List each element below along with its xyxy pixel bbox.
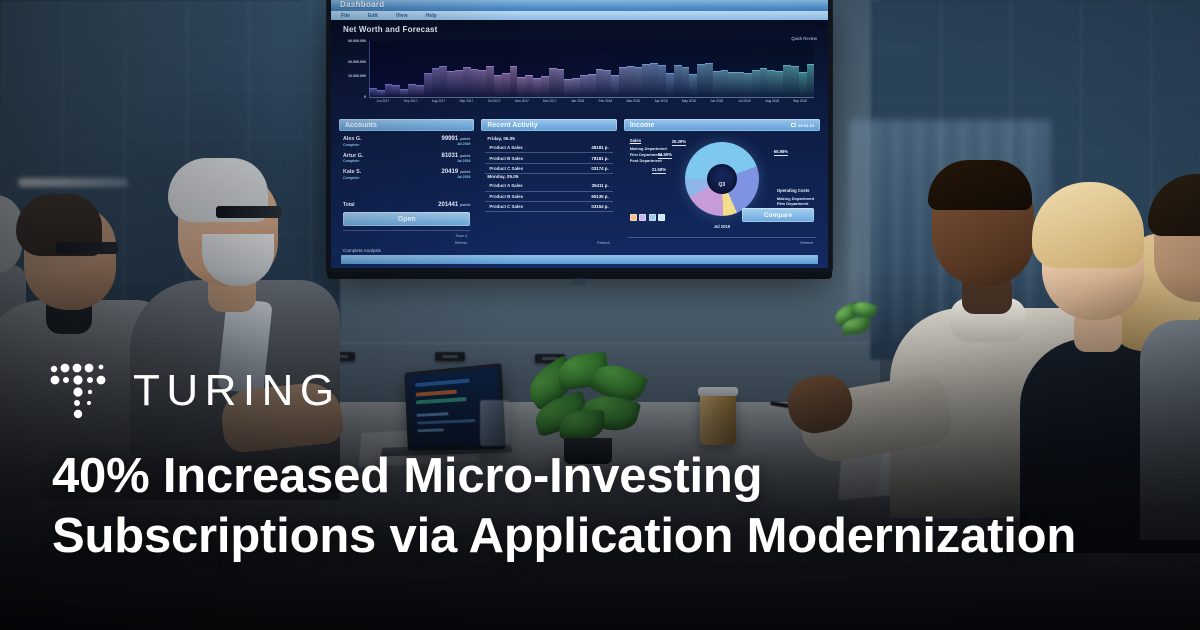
turing-wordmark: TURING — [133, 369, 341, 413]
text-overlay: TURING 40% Increased Micro-Investing Sub… — [0, 0, 1200, 630]
headline-line-2: Subscriptions via Application Modernizat… — [52, 507, 1172, 567]
page-title: 40% Increased Micro-Investing Subscripti… — [52, 447, 1172, 567]
headline-line-1: 40% Increased Micro-Investing — [52, 449, 762, 503]
turing-logo: TURING — [49, 362, 341, 420]
turing-dot-t-logo-icon — [49, 362, 111, 420]
income-donut-center-label: Q3 — [719, 182, 726, 188]
turing-case-study-banner: Dashboard File Edit View Help Net Worth … — [0, 0, 1200, 630]
